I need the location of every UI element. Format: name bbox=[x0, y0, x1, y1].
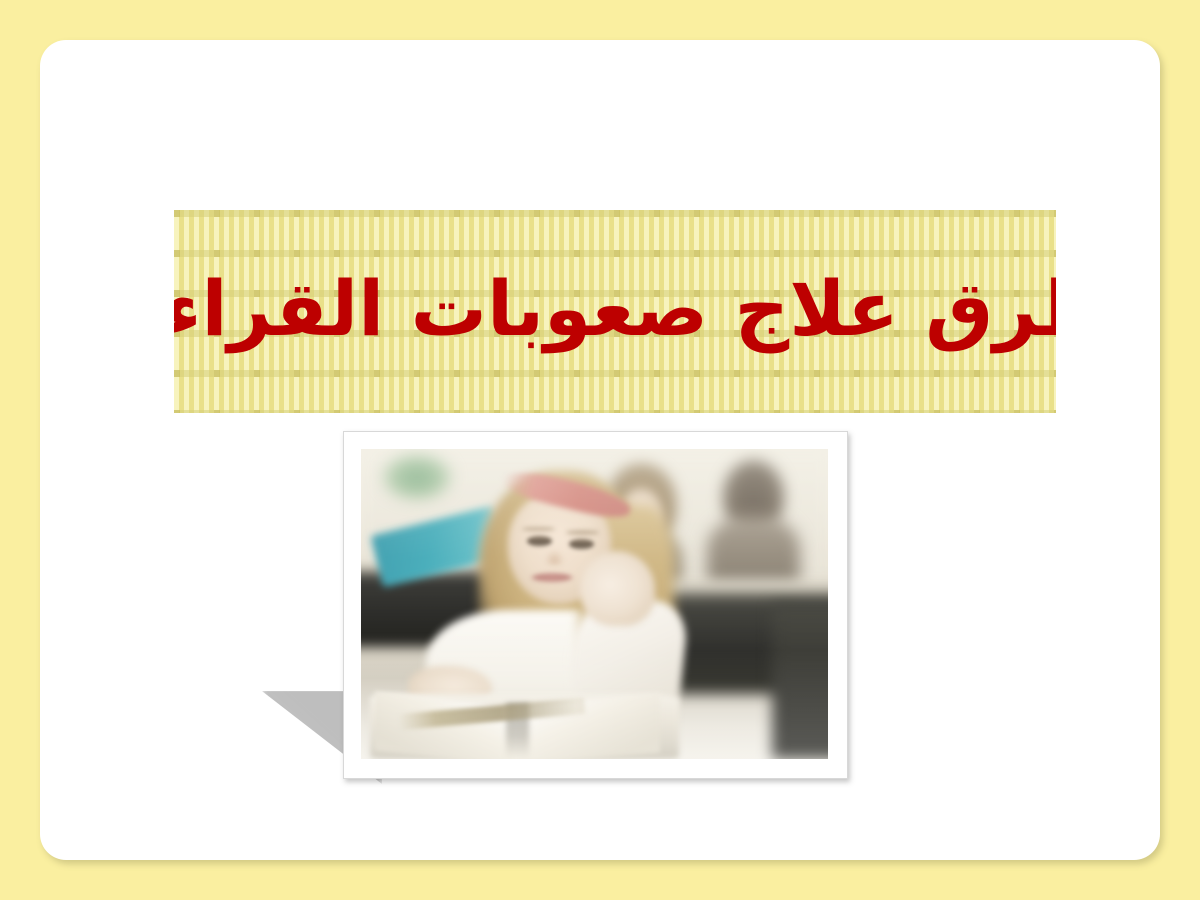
classroom-photo bbox=[361, 449, 828, 759]
slide-root: طرق علاج صعوبات القراءة bbox=[0, 0, 1200, 900]
photo-frame[interactable] bbox=[343, 431, 848, 779]
page-title: طرق علاج صعوبات القراءة bbox=[174, 210, 1056, 413]
photo-soft-focus-veil bbox=[361, 449, 828, 759]
title-banner: طرق علاج صعوبات القراءة bbox=[174, 210, 1056, 413]
